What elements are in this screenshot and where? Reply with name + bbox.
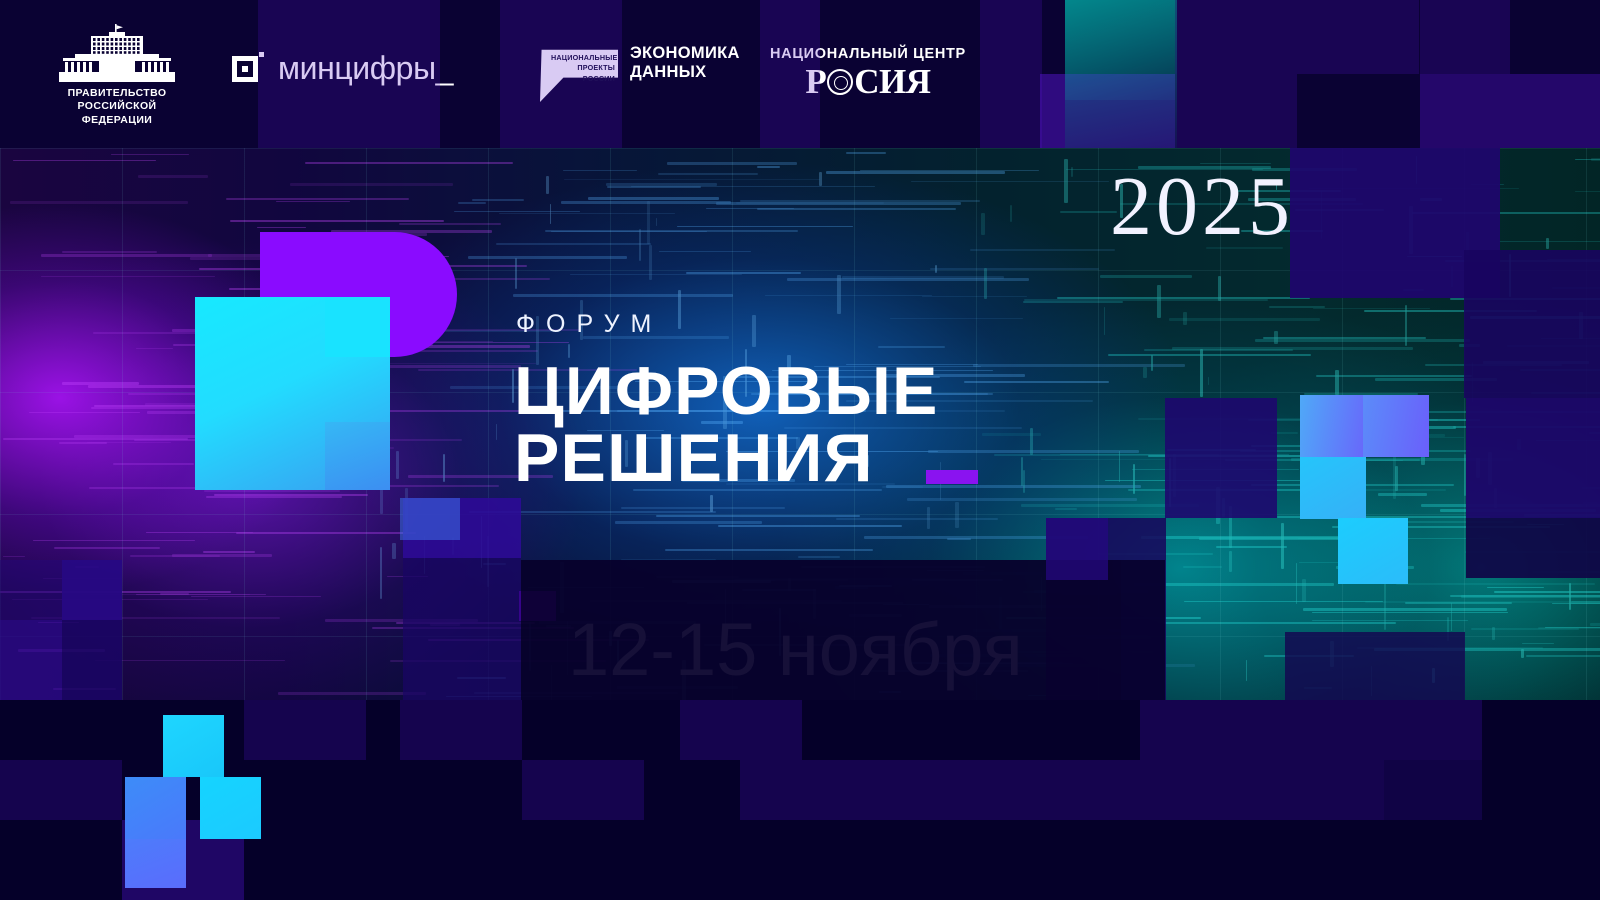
mosaic-square: [400, 700, 522, 760]
mosaic-square: [125, 777, 186, 839]
title-underscore-accent: [926, 470, 978, 484]
mosaic-square: [1300, 395, 1370, 457]
mosaic-square: [740, 760, 862, 820]
mosaic-square: [200, 777, 261, 839]
mosaic-square: [1262, 700, 1384, 760]
mosaic-square: [163, 715, 224, 777]
mosaic-square: [1285, 632, 1465, 700]
mosaic-square: [258, 0, 380, 148]
header-teal-texture: [1065, 0, 1177, 148]
mosaic-square: [760, 0, 820, 148]
mosaic-square: [1466, 518, 1600, 578]
npr-text-line-2: ДАННЫХ: [630, 63, 740, 82]
mosaic-square: [1262, 760, 1384, 820]
mosaic-square: [1420, 74, 1600, 148]
mosaic-square: [500, 0, 622, 148]
ncr-suffix: СИЯ: [854, 64, 930, 99]
gov-line-3: ФЕДЕРАЦИИ: [68, 114, 167, 127]
mosaic-square: [1420, 0, 1510, 74]
mosaic-square: [1175, 0, 1297, 74]
mosaic-square: [1297, 0, 1419, 74]
mosaic-square: [1300, 457, 1366, 519]
npr-text-line-1: ЭКОНОМИКА: [630, 44, 740, 63]
poster-kicker: ФОРУМ: [516, 310, 662, 339]
mosaic-square: [1121, 560, 1165, 700]
mosaic-square: [862, 760, 1018, 820]
mosaic-square: [1384, 760, 1482, 820]
mosaic-square: [680, 700, 802, 760]
government-building-icon: [55, 24, 179, 82]
mosaic-square: [980, 0, 1042, 148]
mosaic-square: [1466, 398, 1600, 518]
gov-line-1: ПРАВИТЕЛЬСТВО: [68, 87, 167, 100]
mosaic-square: [1140, 700, 1262, 760]
ncr-wordmark: Р СИЯ: [805, 64, 930, 99]
mosaic-square: [380, 0, 440, 148]
poster-title-line-2: РЕШЕНИЯ: [514, 425, 1134, 492]
government-logo-text: ПРАВИТЕЛЬСТВО РОССИЙСКОЙ ФЕДЕРАЦИИ: [68, 87, 167, 127]
russia-ornament-icon: [827, 69, 853, 95]
forum-poster: ПРАВИТЕЛЬСТВО РОССИЙСКОЙ ФЕДЕРАЦИИ минци…: [0, 0, 1600, 900]
forum-brandmark-r-icon: [195, 232, 457, 490]
mosaic-square: [400, 498, 460, 540]
mosaic-square: [1175, 74, 1297, 148]
mosaic-square: [1018, 760, 1140, 820]
mosaic-square: [62, 560, 122, 620]
mosaic-square: [1140, 760, 1262, 820]
mosaic-square: [1464, 250, 1600, 398]
mosaic-square: [1046, 518, 1108, 580]
mosaic-square: [1338, 518, 1408, 584]
mosaic-square: [125, 839, 186, 888]
mosaic-square: [0, 620, 62, 700]
poster-year: 2025: [1110, 158, 1294, 255]
gov-line-2: РОССИЙСКОЙ: [68, 100, 167, 113]
mosaic-square: [1363, 395, 1429, 457]
poster-title-line-1: ЦИФРОВЫЕ: [514, 353, 939, 429]
mosaic-square: [244, 700, 366, 760]
economy-of-data-text: ЭКОНОМИКА ДАННЫХ: [630, 44, 740, 83]
poster-title: ЦИФРОВЫЕ РЕШЕНИЯ: [514, 358, 1134, 493]
logo-government-of-russia: ПРАВИТЕЛЬСТВО РОССИЙСКОЙ ФЕДЕРАЦИИ: [55, 24, 179, 127]
mosaic-square: [1165, 398, 1277, 518]
mosaic-square: [0, 760, 122, 820]
mosaic-square: [521, 560, 1121, 700]
mosaic-square: [1384, 700, 1482, 760]
mosaic-square: [522, 760, 644, 820]
